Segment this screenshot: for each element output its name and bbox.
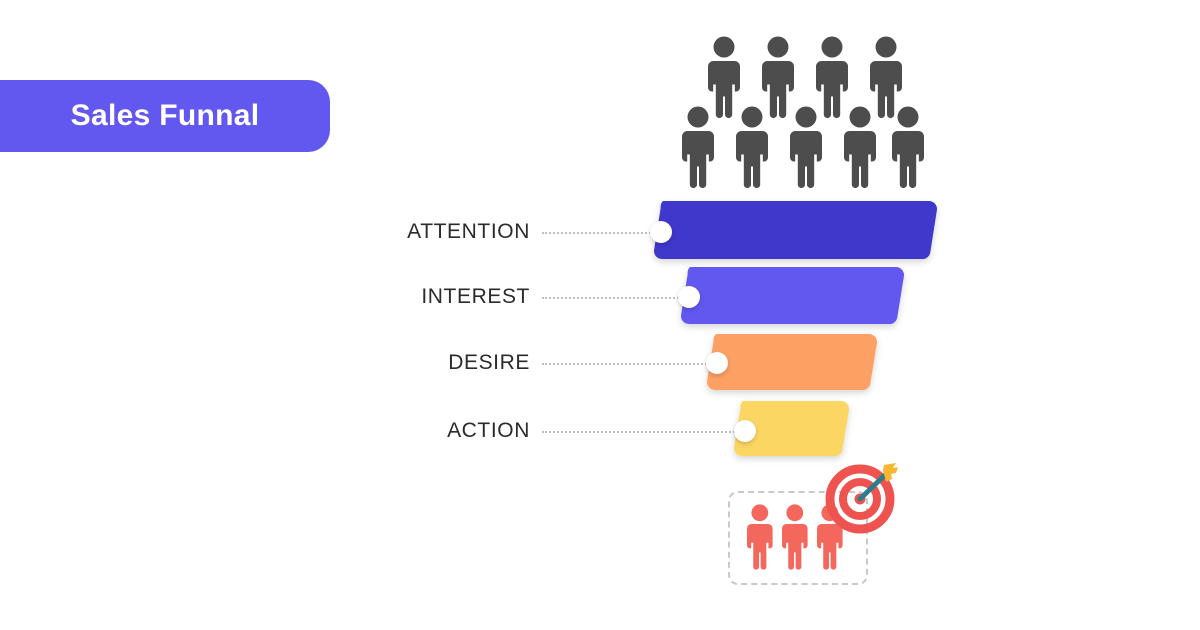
target-with-arrow-icon	[822, 455, 904, 537]
connector-line-attention	[542, 232, 662, 234]
funnel-band-attention[interactable]	[654, 201, 937, 259]
connector-line-action	[542, 431, 746, 433]
funnel-band-interest[interactable]	[681, 267, 904, 324]
connector-line-desire	[542, 363, 718, 365]
stage-marker-action[interactable]	[734, 420, 756, 442]
stage-marker-attention[interactable]	[650, 221, 672, 243]
person-icon	[892, 107, 924, 189]
person-icon	[708, 37, 740, 119]
person-icon	[870, 37, 902, 119]
people-top-svg	[670, 28, 930, 190]
connector-line-interest	[542, 297, 690, 299]
audience-people-group	[670, 28, 930, 190]
funnel-band-desire[interactable]	[707, 334, 877, 390]
person-icon	[816, 37, 848, 119]
title-badge: Sales Funnal	[0, 80, 330, 152]
person-icon	[747, 504, 773, 569]
stage-label-interest: INTEREST	[421, 285, 530, 308]
stage-label-action: ACTION	[447, 419, 530, 442]
person-icon	[736, 107, 768, 189]
stage-marker-interest[interactable]	[678, 286, 700, 308]
person-icon	[844, 107, 876, 189]
person-icon	[682, 107, 714, 189]
infographic-canvas: Sales Funnal	[0, 0, 1200, 630]
person-icon	[790, 107, 822, 189]
stage-label-attention: ATTENTION	[407, 220, 530, 243]
stage-label-desire: DESIRE	[448, 351, 530, 374]
page-title: Sales Funnal	[71, 99, 260, 133]
stage-marker-desire[interactable]	[706, 352, 728, 374]
person-icon	[782, 504, 808, 569]
person-icon	[762, 37, 794, 119]
